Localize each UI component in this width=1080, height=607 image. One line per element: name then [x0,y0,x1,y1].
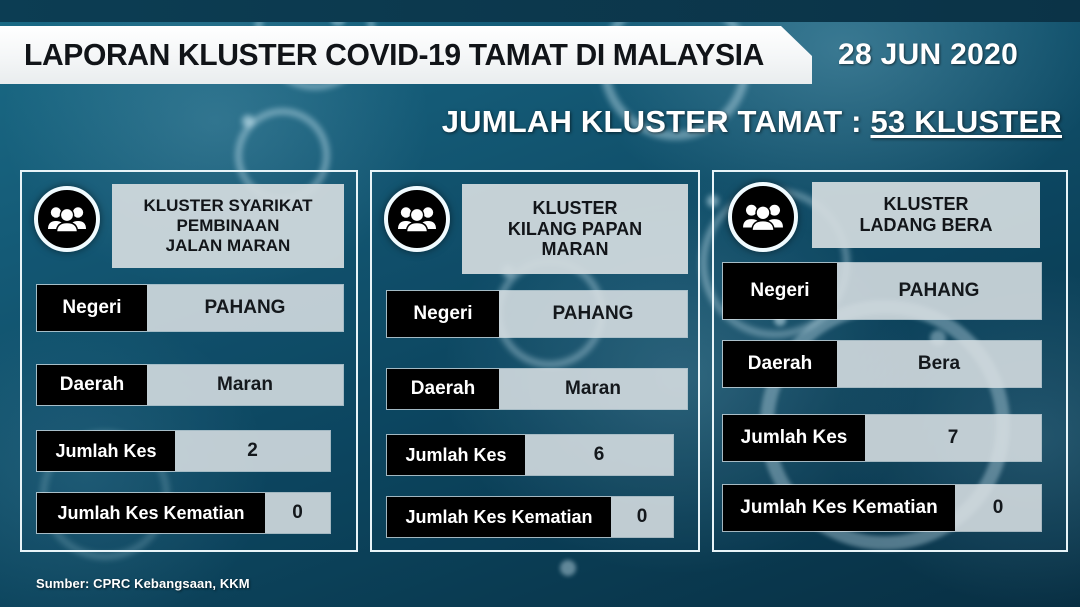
row-value-daerah: Maran [499,369,687,409]
row-value-jumlah-kes-kematian: 0 [955,485,1041,531]
table-row: Jumlah Kes Kematian 0 [386,496,674,538]
cluster-card[interactable]: KLUSTER SYARIKAT PEMBINAAN JALAN MARAN N… [20,170,358,552]
top-bar [0,0,1080,22]
cluster-name-text: KLUSTER LADANG BERA [860,194,993,236]
cluster-name: KLUSTER LADANG BERA [812,182,1040,248]
table-row: Daerah Maran [36,364,344,406]
people-group-icon [728,182,798,252]
table-row: Jumlah Kes 2 [36,430,331,472]
source-note: Sumber: CPRC Kebangsaan, KKM [36,576,250,591]
row-label-jumlah-kes: Jumlah Kes [37,431,175,471]
table-row: Daerah Maran [386,368,688,410]
total-clusters-label: JUMLAH KLUSTER TAMAT : [442,104,871,139]
row-label-jumlah-kes-kematian: Jumlah Kes Kematian [723,485,955,531]
infographic-canvas: LAPORAN KLUSTER COVID-19 TAMAT DI MALAYS… [0,0,1080,607]
title-ribbon: LAPORAN KLUSTER COVID-19 TAMAT DI MALAYS… [0,26,812,84]
row-value-daerah: Bera [837,341,1041,387]
row-value-jumlah-kes: 6 [525,435,673,475]
row-label-negeri: Negeri [387,291,499,337]
row-value-negeri: PAHANG [499,291,687,337]
table-row: Jumlah Kes Kematian 0 [36,492,331,534]
virus-spike [560,560,576,576]
table-row: Jumlah Kes 6 [386,434,674,476]
row-label-daerah: Daerah [387,369,499,409]
people-group-icon [384,186,450,252]
row-label-jumlah-kes: Jumlah Kes [723,415,865,461]
table-row: Daerah Bera [722,340,1042,388]
row-value-jumlah-kes: 7 [865,415,1041,461]
report-date: 28 JUN 2020 [838,38,1018,72]
cluster-name: KLUSTER KILANG PAPAN MARAN [462,184,688,274]
total-clusters-line: JUMLAH KLUSTER TAMAT : 53 KLUSTER [0,104,1062,140]
row-label-daerah: Daerah [37,365,147,405]
people-group-icon [34,186,100,252]
row-value-negeri: PAHANG [147,285,343,331]
row-value-daerah: Maran [147,365,343,405]
page-title: LAPORAN KLUSTER COVID-19 TAMAT DI MALAYS… [24,37,764,73]
cluster-card[interactable]: KLUSTER KILANG PAPAN MARAN Negeri PAHANG… [370,170,700,552]
cluster-name: KLUSTER SYARIKAT PEMBINAAN JALAN MARAN [112,184,344,268]
row-label-jumlah-kes-kematian: Jumlah Kes Kematian [387,497,611,537]
row-label-negeri: Negeri [37,285,147,331]
table-row: Negeri PAHANG [722,262,1042,320]
cluster-name-text: KLUSTER KILANG PAPAN MARAN [508,198,642,261]
row-label-negeri: Negeri [723,263,837,319]
cluster-card[interactable]: KLUSTER LADANG BERA Negeri PAHANG Daerah… [712,170,1068,552]
table-row: Jumlah Kes Kematian 0 [722,484,1042,532]
cluster-name-text: KLUSTER SYARIKAT PEMBINAAN JALAN MARAN [143,196,312,255]
table-row: Negeri PAHANG [386,290,688,338]
table-row: Jumlah Kes 7 [722,414,1042,462]
row-value-jumlah-kes-kematian: 0 [265,493,330,533]
row-value-negeri: PAHANG [837,263,1041,319]
row-label-jumlah-kes: Jumlah Kes [387,435,525,475]
row-label-jumlah-kes-kematian: Jumlah Kes Kematian [37,493,265,533]
row-label-daerah: Daerah [723,341,837,387]
row-value-jumlah-kes-kematian: 0 [611,497,673,537]
total-clusters-value: 53 KLUSTER [871,104,1062,139]
table-row: Negeri PAHANG [36,284,344,332]
row-value-jumlah-kes: 2 [175,431,330,471]
